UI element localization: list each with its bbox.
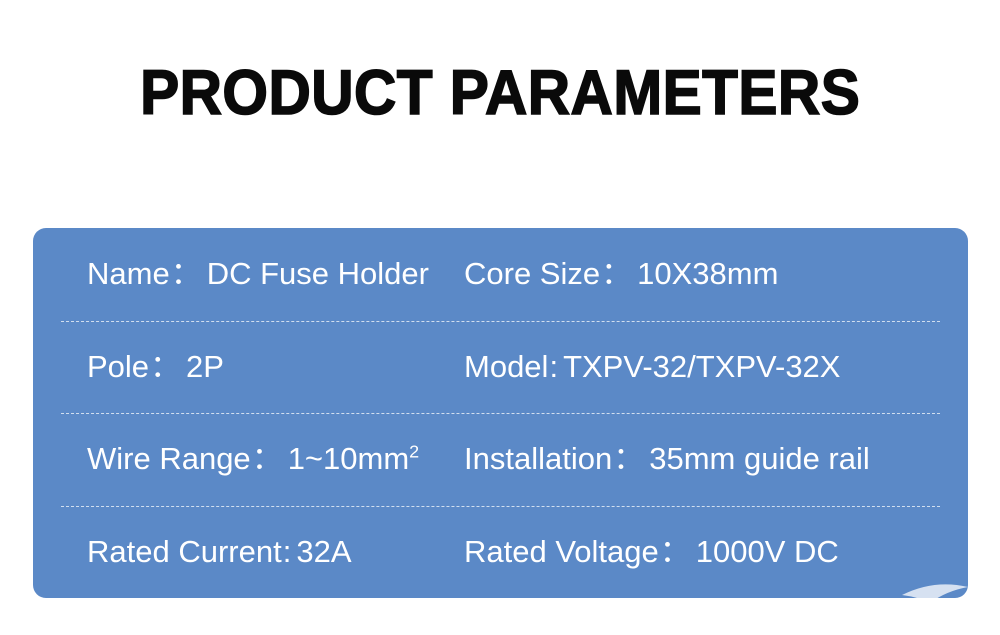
parameter-value: 1000V DC <box>692 535 839 569</box>
parameter-label: Rated Current <box>87 535 282 569</box>
parameters-card: Name：DC Fuse Holder Core Size：10X38mm Po… <box>33 228 968 598</box>
product-parameters-page: PRODUCT PARAMETERS Name：DC Fuse Holder C… <box>0 0 1000 635</box>
parameter-label: Wire Range <box>87 442 251 476</box>
parameter-separator: ： <box>170 257 203 291</box>
parameter-value-text: 1~10mm <box>288 441 409 476</box>
parameter-separator: : <box>548 350 559 384</box>
parameter-separator: ： <box>612 442 645 476</box>
page-title-container: PRODUCT PARAMETERS <box>0 62 1000 125</box>
parameter-value: 10X38mm <box>633 257 778 291</box>
parameter-separator: ： <box>149 350 182 384</box>
page-title: PRODUCT PARAMETERS <box>140 62 860 125</box>
parameter-cell-pole: Pole：2P <box>61 350 456 384</box>
table-row: Rated Current:32A Rated Voltage：1000V DC <box>61 506 940 599</box>
parameter-value: 1~10mm2 <box>284 442 419 476</box>
parameter-cell-model: Model:TXPV-32/TXPV-32X <box>456 350 940 384</box>
parameter-cell-core-size: Core Size：10X38mm <box>456 257 940 291</box>
parameter-value: 2P <box>182 350 224 384</box>
parameter-label: Core Size <box>464 257 600 291</box>
parameter-label: Rated Voltage <box>464 535 659 569</box>
parameter-label: Name <box>87 257 170 291</box>
parameter-label: Pole <box>87 350 149 384</box>
parameter-separator: ： <box>600 257 633 291</box>
parameter-label: Installation <box>464 442 612 476</box>
parameter-cell-rated-current: Rated Current:32A <box>61 535 456 569</box>
parameter-separator: ： <box>659 535 692 569</box>
parameter-separator: : <box>282 535 293 569</box>
parameter-cell-name: Name：DC Fuse Holder <box>61 257 456 291</box>
parameter-cell-installation: Installation：35mm guide rail <box>456 442 940 476</box>
table-row: Name：DC Fuse Holder Core Size：10X38mm <box>61 228 940 321</box>
parameter-value: TXPV-32/TXPV-32X <box>559 350 840 384</box>
table-row: Pole：2P Model:TXPV-32/TXPV-32X <box>61 321 940 414</box>
table-row: Wire Range：1~10mm2 Installation：35mm gui… <box>61 413 940 506</box>
parameter-separator: ： <box>251 442 284 476</box>
parameter-cell-wire-range: Wire Range：1~10mm2 <box>61 442 456 476</box>
parameter-value-superscript: 2 <box>409 442 419 462</box>
parameter-cell-rated-voltage: Rated Voltage：1000V DC <box>456 535 940 569</box>
parameter-value: 35mm guide rail <box>645 442 870 476</box>
parameter-label: Model <box>464 350 548 384</box>
parameter-value: 32A <box>292 535 351 569</box>
watermark-text: BAZAR <box>878 595 970 625</box>
parameter-value: DC Fuse Holder <box>203 257 429 291</box>
